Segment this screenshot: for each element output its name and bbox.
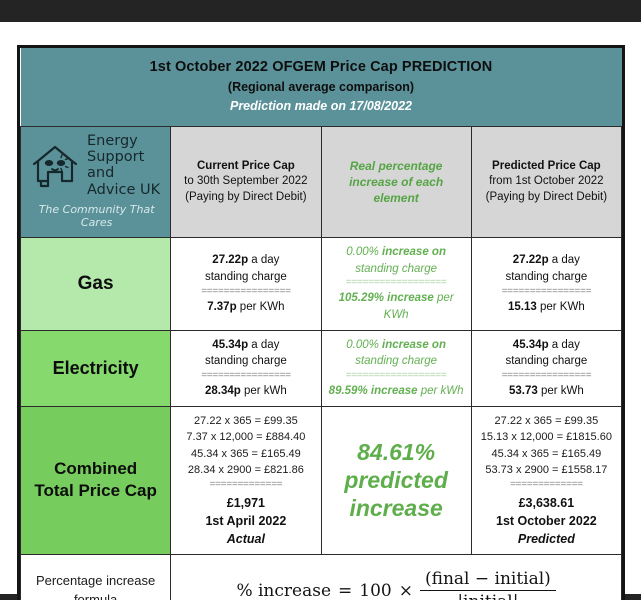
electricity-predicted-standing: 45.34p a day (476, 337, 617, 354)
formula-expression-cell: % increase = 100 × (final − initial) |in… (171, 555, 622, 600)
gas-predicted-standing: 27.22p a day (476, 252, 617, 269)
gas-current-cell: 27.22p a day standing charge ===========… (171, 237, 321, 330)
combined-current-calc1: 27.22 x 365 = £99.35 (175, 413, 316, 430)
brand-name-line1: Energy Support (87, 133, 144, 165)
gas-predicted-divider: ================ (476, 286, 617, 299)
electricity-current-unit: 28.34p per kWh (175, 383, 316, 400)
row-label-combined-line2: Total Price Cap (34, 481, 157, 500)
col-current-period: to 30th September 2022 (176, 174, 315, 190)
gas-increase-cell: 0.00% increase on standing charge ======… (321, 237, 471, 330)
app-chrome-top-bar (0, 0, 641, 22)
electricity-increase-standing-sub: standing charge (326, 353, 467, 370)
combined-current-total: £1,971 (175, 494, 316, 512)
electricity-predicted-divider: ================ (476, 370, 617, 383)
gas-predicted-cell: 27.22p a day standing charge ===========… (471, 237, 621, 330)
combined-increase-cell: 84.61% predicted increase (321, 406, 471, 554)
combined-current-calc4: 28.34 x 2900 = £821.86 (175, 462, 316, 479)
gas-current-standing: 27.22p a day (175, 252, 316, 269)
formula-label-cell: Percentage increase formula (21, 555, 171, 600)
table-row-gas: Gas 27.22p a day standing charge =======… (21, 237, 622, 330)
gas-current-divider: ================ (175, 286, 316, 299)
combined-current-cell: 27.22 x 365 = £99.35 7.37 x 12,000 = £88… (171, 406, 321, 554)
electricity-current-divider: ================ (175, 370, 316, 383)
predicted-increase-value: 84.61% (326, 438, 467, 466)
electricity-current-standing: 45.34p a day (175, 337, 316, 354)
col-increase-title: Real percentage (327, 158, 466, 174)
gas-increase-standing-sub: standing charge (326, 261, 467, 278)
house-face-icon (29, 140, 81, 190)
formula-label-line2: formula (74, 592, 117, 600)
combined-current-kind: Actual (175, 530, 316, 548)
combined-predicted-total: £3,638.61 (476, 494, 617, 512)
combined-predicted-divider: ============= (476, 479, 617, 492)
predicted-increase-percent: 84.61% predicted increase (326, 438, 467, 522)
formula-numerator: (final − initial) (420, 569, 556, 590)
combined-predicted-cell: 27.22 x 365 = £99.35 15.13 x 12,000 = £1… (471, 406, 621, 554)
electricity-increase-cell: 0.00% increase on standing charge ======… (321, 330, 471, 406)
row-label-combined: Combined Total Price Cap (21, 406, 171, 554)
brand-logo-cell: Energy Support and Advice UK The Communi… (21, 127, 171, 238)
combined-current-date: 1st April 2022 (175, 512, 316, 530)
col-current-note: (Paying by Direct Debit) (176, 190, 315, 206)
gas-increase-standing: 0.00% increase on (326, 244, 467, 261)
col-predicted-note: (Paying by Direct Debit) (477, 190, 616, 206)
gas-increase-divider: ================== (326, 277, 467, 290)
col-increase-title3: element (327, 190, 466, 206)
formula-denominator: |initial| (420, 590, 556, 600)
column-header-predicted: Predicted Price Cap from 1st October 202… (471, 127, 621, 238)
electricity-predicted-cell: 45.34p a day standing charge ===========… (471, 330, 621, 406)
title-main: 1st October 2022 OFGEM Price Cap PREDICT… (27, 59, 616, 75)
formula-expression: % increase = 100 × (final − initial) |in… (236, 569, 555, 600)
electricity-increase-divider: ================== (326, 370, 467, 383)
price-cap-table: 1st October 2022 OFGEM Price Cap PREDICT… (20, 48, 622, 600)
brand-name-line2: and Advice UK (87, 165, 160, 197)
brand-tagline: The Community That Cares (29, 203, 164, 229)
formula-label-line1: Percentage increase (36, 573, 155, 588)
table-row-combined: Combined Total Price Cap 27.22 x 365 = £… (21, 406, 622, 554)
electricity-increase-unit: 89.59% increase per kWh (326, 383, 467, 400)
gas-increase-unit: 105.29% increase per KWh (326, 290, 467, 323)
column-header-row: Energy Support and Advice UK The Communi… (21, 127, 622, 238)
combined-predicted-calc3: 45.34 x 365 = £165.49 (476, 446, 617, 463)
title-sub: (Regional average comparison) (27, 80, 616, 94)
title-prediction-date: Prediction made on 17/08/2022 (27, 99, 616, 113)
formula-equals: = (338, 581, 352, 600)
combined-predicted-calc4: 53.73 x 2900 = £1558.17 (476, 462, 617, 479)
brand-name: Energy Support and Advice UK (87, 133, 164, 198)
combined-predicted-date: 1st October 2022 (476, 512, 617, 530)
electricity-increase-standing: 0.00% increase on (326, 337, 467, 354)
combined-current-divider: ============= (175, 479, 316, 492)
table-row-electricity: Electricity 45.34p a day standing charge… (21, 330, 622, 406)
combined-current-calc2: 7.37 x 12,000 = £884.40 (175, 429, 316, 446)
gas-current-standing-sub: standing charge (175, 269, 316, 286)
column-header-current: Current Price Cap to 30th September 2022… (171, 127, 321, 238)
column-header-increase: Real percentage increase of each element (321, 127, 471, 238)
col-predicted-title: Predicted Price Cap (477, 159, 616, 175)
gas-predicted-unit: 15.13 per KWh (476, 299, 617, 316)
screenshot-root: 1st October 2022 OFGEM Price Cap PREDICT… (0, 0, 641, 600)
electricity-current-standing-sub: standing charge (175, 353, 316, 370)
formula-lhs: % increase (236, 581, 331, 600)
row-label-combined-line1: Combined (54, 459, 137, 478)
electricity-current-cell: 45.34p a day standing charge ===========… (171, 330, 321, 406)
predicted-increase-word2: increase (326, 494, 467, 522)
combined-predicted-calc1: 27.22 x 365 = £99.35 (476, 413, 617, 430)
formula-times: × (399, 581, 413, 600)
combined-predicted-kind: Predicted (476, 530, 617, 548)
col-predicted-period: from 1st October 2022 (477, 174, 616, 190)
col-current-title: Current Price Cap (176, 159, 315, 175)
formula-hundred: 100 (359, 581, 391, 600)
electricity-predicted-unit: 53.73 per kWh (476, 383, 617, 400)
combined-current-calc3: 45.34 x 365 = £165.49 (175, 446, 316, 463)
table-title-cell: 1st October 2022 OFGEM Price Cap PREDICT… (21, 48, 622, 127)
formula-fraction: (final − initial) |initial| (420, 569, 556, 600)
gas-current-unit: 7.37p per KWh (175, 299, 316, 316)
price-cap-table-container: 1st October 2022 OFGEM Price Cap PREDICT… (17, 45, 625, 600)
row-label-electricity: Electricity (21, 330, 171, 406)
predicted-increase-word1: predicted (326, 466, 467, 494)
row-label-gas: Gas (21, 237, 171, 330)
table-row-formula: Percentage increase formula % increase =… (21, 555, 622, 600)
electricity-predicted-standing-sub: standing charge (476, 353, 617, 370)
gas-predicted-standing-sub: standing charge (476, 269, 617, 286)
table-title-row: 1st October 2022 OFGEM Price Cap PREDICT… (21, 48, 622, 127)
col-increase-title2: increase of each (327, 174, 466, 190)
combined-predicted-calc2: 15.13 x 12,000 = £1815.60 (476, 429, 617, 446)
